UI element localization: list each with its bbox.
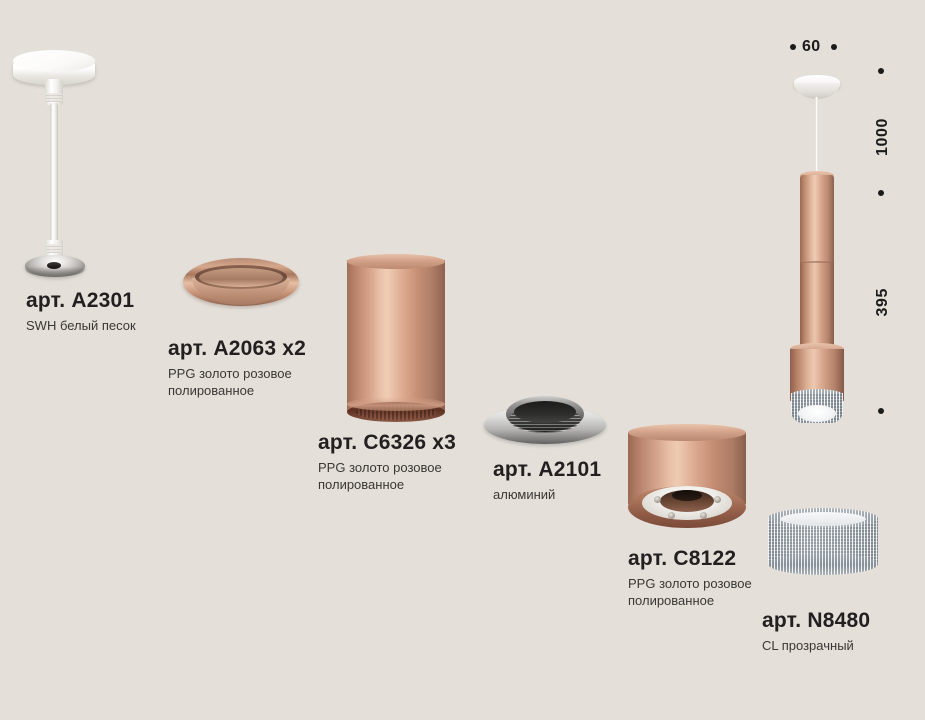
part-c8122: [628, 424, 746, 534]
label-a2101-code: арт. A2101: [493, 459, 601, 481]
ring-inner-face-icon: [199, 268, 283, 287]
label-n8480: арт. N8480 CL прозрачный: [762, 610, 870, 654]
support-rod-icon: [50, 103, 58, 243]
crystal-aperture-icon: [780, 512, 866, 526]
assembly-cylinder-upper-icon: [800, 175, 834, 265]
base-hole-icon: [47, 262, 61, 269]
label-c8122-code: арт. C8122: [628, 548, 752, 570]
cylinder-body-icon: [347, 260, 445, 412]
dim-dot-fixture-bottom: [878, 408, 884, 414]
label-a2063-desc: PPG золото розовое полированное: [168, 365, 306, 399]
upper-joint-icon: [45, 79, 63, 105]
drum-bore-icon: [672, 490, 702, 501]
label-a2301-desc: SWH белый песок: [26, 317, 136, 334]
cylinder-top-icon: [347, 254, 445, 269]
part-n8480: [768, 508, 878, 578]
assembly-diffuser-icon: [798, 405, 836, 422]
dim-dot-width-right: [831, 44, 837, 50]
dim-dot-width-left: [790, 44, 796, 50]
dim-dot-drop-top: [878, 68, 884, 74]
label-n8480-desc: CL прозрачный: [762, 637, 870, 654]
dim-dot-drop-bottom: [878, 190, 884, 196]
screw-icon: [654, 496, 661, 503]
drum-top-icon: [628, 424, 746, 441]
dim-label-drop: 1000: [874, 118, 892, 156]
label-c6326-desc: PPG золото розовое полированное: [318, 459, 456, 493]
dim-label-width: 60: [802, 38, 821, 56]
label-n8480-code: арт. N8480: [762, 610, 870, 632]
product-diagram-canvas: арт. A2301 SWH белый песок арт. A2063 x2…: [0, 0, 925, 720]
label-a2101: арт. A2101 алюминий: [493, 459, 601, 503]
part-a2063: [183, 258, 299, 306]
label-c8122-desc: PPG золото розовое полированное: [628, 575, 752, 609]
label-a2101-desc: алюминий: [493, 486, 601, 503]
crystal-bottom-icon: [768, 553, 878, 575]
dim-label-fixture-height: 395: [874, 288, 892, 317]
cylinder-rim-icon: [347, 397, 445, 411]
label-c6326-code: арт. C6326 x3: [318, 432, 456, 454]
ring-aperture-icon: [514, 401, 576, 423]
label-a2301-code: арт. A2301: [26, 290, 136, 312]
part-a2101: [484, 396, 606, 446]
assembled-pendant-lamp: [786, 75, 856, 415]
screw-icon: [668, 512, 675, 519]
label-a2301: арт. A2301 SWH белый песок: [26, 290, 136, 334]
label-c8122: арт. C8122 PPG золото розовое полированн…: [628, 548, 752, 609]
assembly-drum: [790, 343, 844, 415]
label-c6326: арт. C6326 x3 PPG золото розовое полиров…: [318, 432, 456, 493]
screw-icon: [700, 512, 707, 519]
canopy-top-icon: [13, 50, 95, 72]
screw-icon: [714, 496, 721, 503]
part-c6326: [347, 254, 445, 422]
label-a2063: арт. A2063 x2 PPG золото розовое полиров…: [168, 338, 306, 399]
assembly-wire-icon: [815, 97, 818, 177]
label-a2063-code: арт. A2063 x2: [168, 338, 306, 360]
assembly-cylinder-lower-icon: [800, 263, 834, 349]
